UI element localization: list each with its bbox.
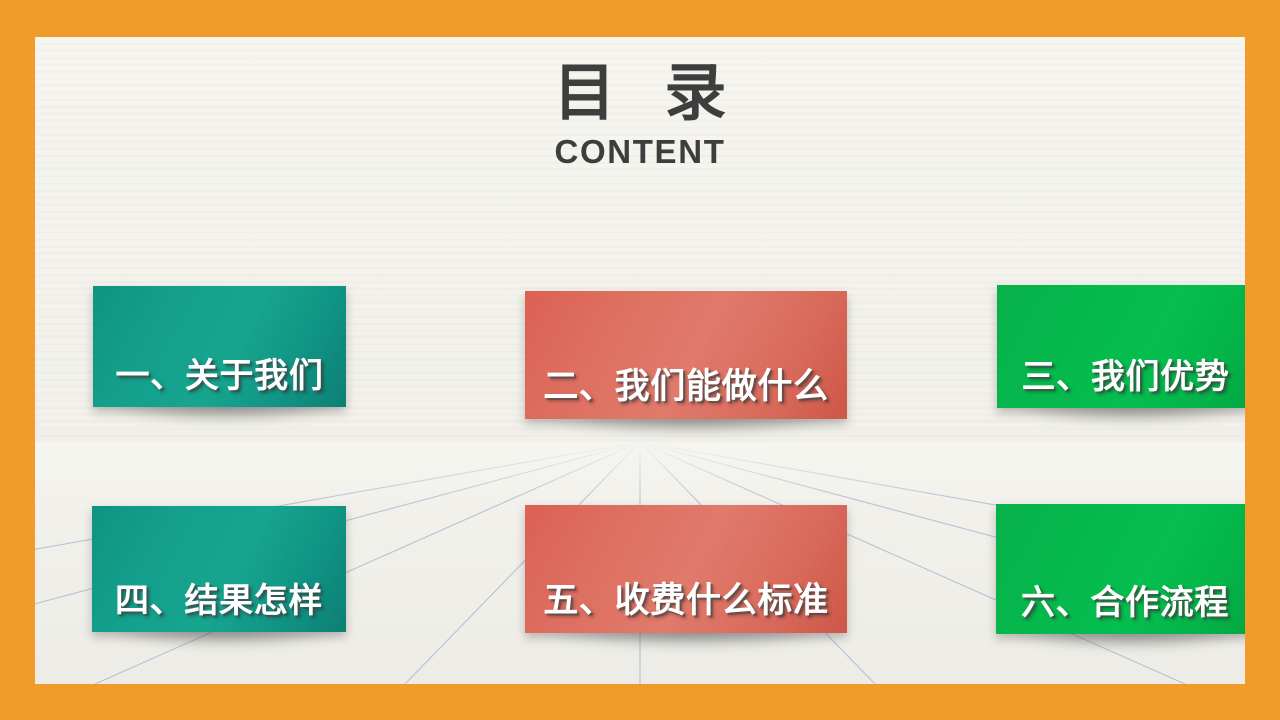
- agenda-card-6[interactable]: 六、合作流程: [996, 504, 1245, 634]
- card-body: 二、我们能做什么: [525, 291, 847, 419]
- slide-canvas: 目 录 CONTENT 一、关于我们 二、我们能做什么 三、我们优势 四: [0, 0, 1280, 720]
- card-body: 三、我们优势: [997, 285, 1245, 408]
- agenda-card-1[interactable]: 一、关于我们: [93, 286, 346, 407]
- title-block: 目 录 CONTENT: [35, 59, 1245, 171]
- card-body: 五、收费什么标准: [525, 505, 847, 633]
- agenda-card-3-label: 三、我们优势: [1021, 349, 1229, 408]
- agenda-card-6-label: 六、合作流程: [1021, 575, 1229, 634]
- agenda-card-2[interactable]: 二、我们能做什么: [525, 291, 847, 419]
- agenda-card-3[interactable]: 三、我们优势: [997, 285, 1245, 408]
- page-title: 目 录: [35, 59, 1245, 127]
- slide-content-area: 目 录 CONTENT 一、关于我们 二、我们能做什么 三、我们优势 四: [35, 37, 1245, 684]
- card-body: 一、关于我们: [93, 286, 346, 407]
- agenda-card-4[interactable]: 四、结果怎样: [92, 506, 346, 632]
- agenda-card-5-label: 五、收费什么标准: [543, 572, 829, 633]
- page-subtitle: CONTENT: [35, 133, 1245, 171]
- agenda-card-2-label: 二、我们能做什么: [543, 358, 829, 419]
- card-body: 四、结果怎样: [92, 506, 346, 632]
- agenda-card-5[interactable]: 五、收费什么标准: [525, 505, 847, 633]
- agenda-card-4-label: 四、结果怎样: [115, 573, 323, 632]
- agenda-card-1-label: 一、关于我们: [115, 348, 323, 407]
- card-body: 六、合作流程: [996, 504, 1245, 634]
